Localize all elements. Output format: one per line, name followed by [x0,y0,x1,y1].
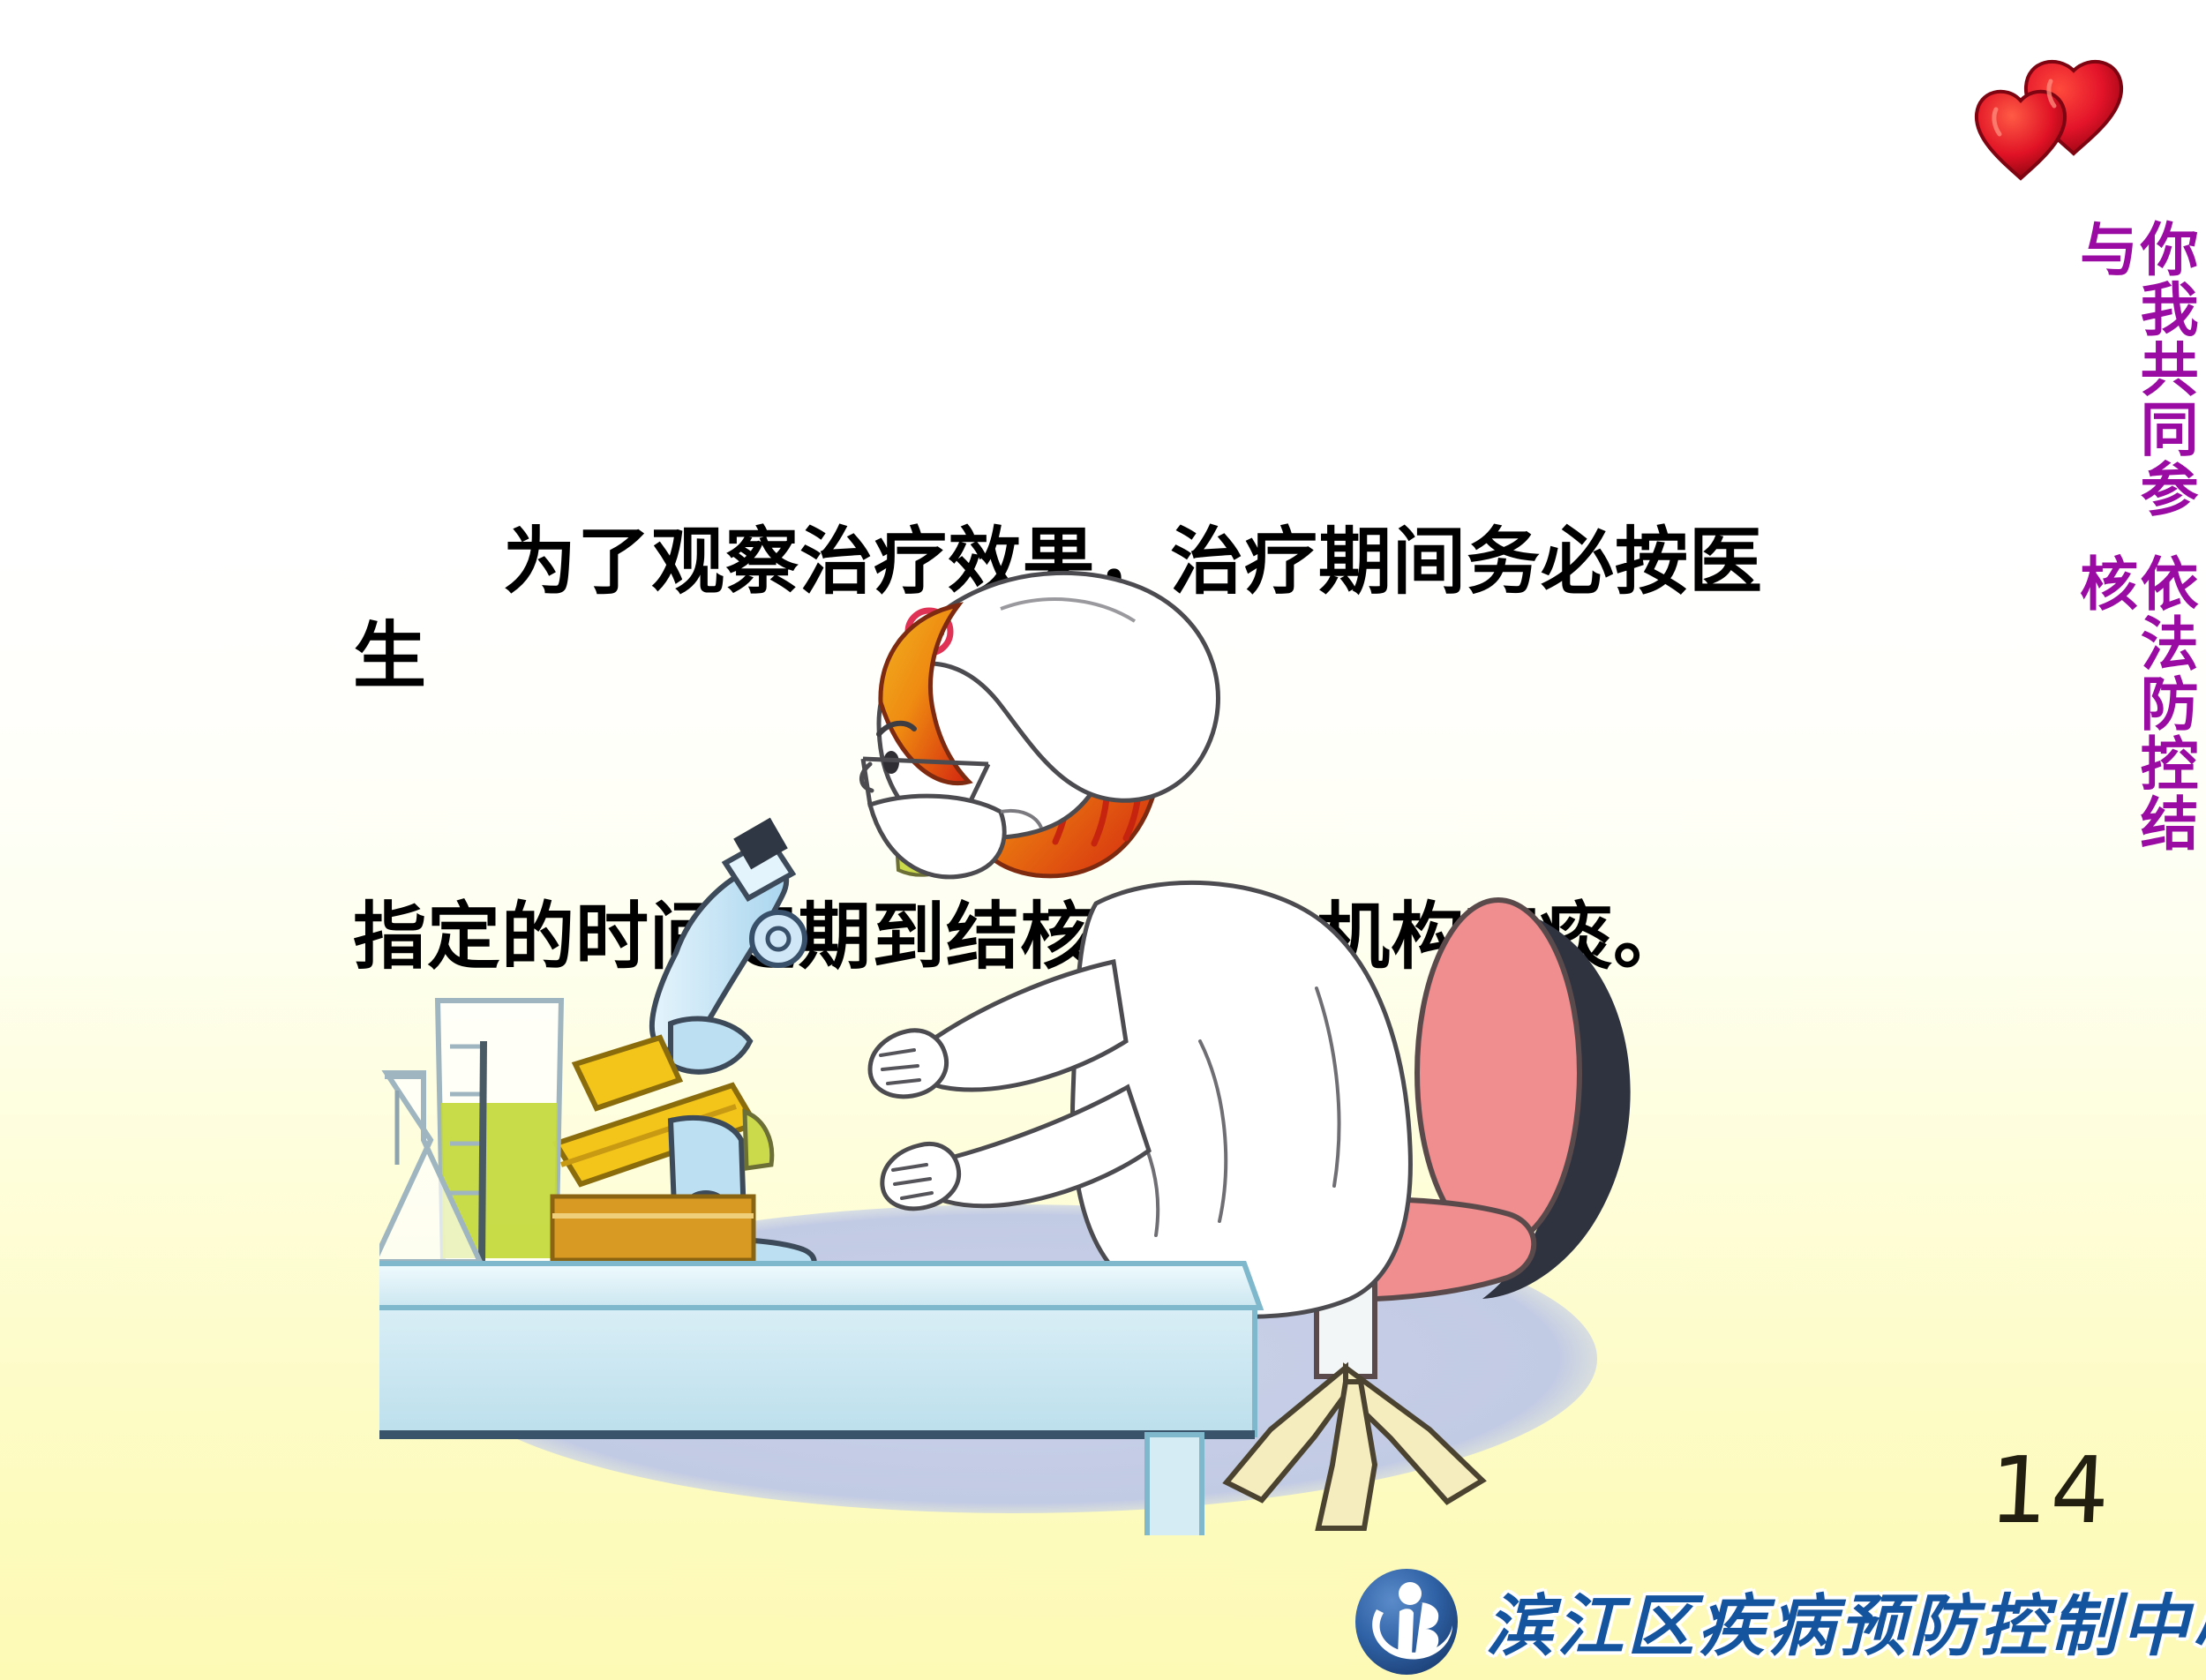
coarse-focus-knob [752,912,805,965]
organization-name: 滨江区疾病预防控制中心 [1486,1571,2206,1669]
vertical-slogan-line-1: 你我共同参与 [2073,219,2194,530]
chair-backrest [1417,900,1579,1246]
specimen-slide [575,1038,679,1108]
beaker [379,547,561,1264]
lab-technician-microscope-illustration [379,547,1703,1535]
stirring-rod [482,1041,484,1262]
desk-leg-right [1147,1435,1202,1535]
lab-technician-figure [861,573,1410,1316]
vertical-slogan-line-2: 依法防控结核 [2073,553,2194,854]
hand-lower [882,1144,959,1208]
double-hearts-icon [1970,55,2128,196]
footer-logo-bar: 滨江区疾病预防控制中心 [1350,1560,2206,1680]
face-mask [870,796,1004,877]
slide-canvas: 你我共同参与 依法防控结核 为了观察治疗效果，治疗期间务必按医生 指定的时间定期… [0,0,2206,1680]
page-number: 14 [1987,1436,2115,1544]
slide-box [552,1196,754,1260]
hand-upper [870,1031,947,1097]
ib-circle-logo-icon [1350,1564,1463,1676]
vertical-slogan-banner: 你我共同参与 依法防控结核 [2081,219,2187,854]
